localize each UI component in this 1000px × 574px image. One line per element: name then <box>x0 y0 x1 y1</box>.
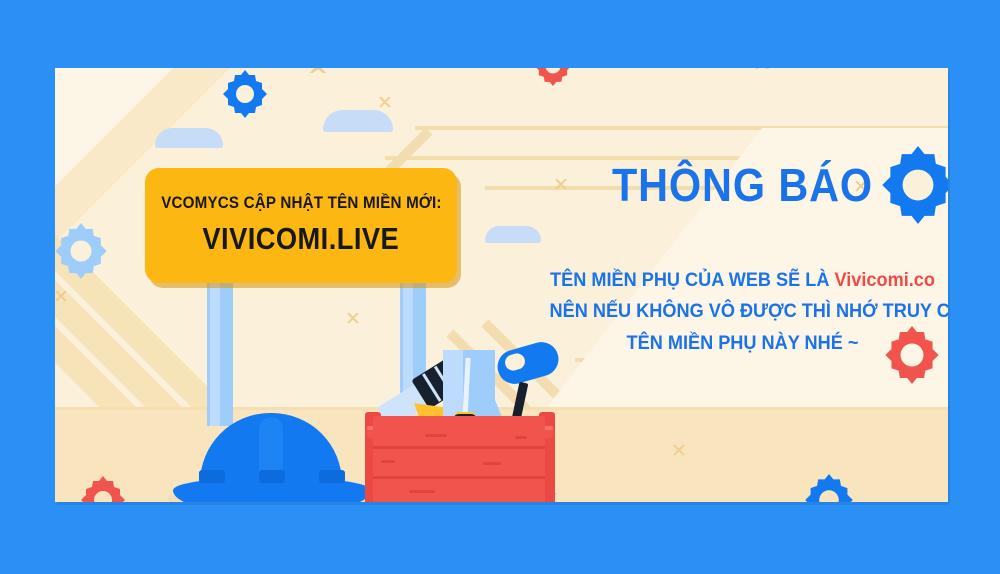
guide-corner-1 <box>394 127 432 165</box>
announcement-card: ✕ ✕ ✕ ✕ ✕ ✕ ✕ ✕ ^ ^ <box>55 68 948 502</box>
toolbox <box>365 364 555 502</box>
x-mark-6: ✕ <box>55 288 69 307</box>
toolbox-dash-4 <box>409 490 435 493</box>
gear-bottom-left-red-icon <box>79 476 127 502</box>
page-title: THÔNG BÁO <box>556 160 930 211</box>
post-shine <box>210 268 220 426</box>
gear-top-left-icon <box>221 70 269 118</box>
x-mark-1: ✕ <box>377 94 393 113</box>
announcement-body: TÊN MIỀN PHỤ CỦA WEB SẼ LÀ Vivicomi.co N… <box>550 265 936 360</box>
announcement-text-block: THÔNG BÁO TÊN MIỀN PHỤ CỦA WEB SẼ LÀ Viv… <box>535 160 948 359</box>
hard-hat-clip-center <box>259 470 285 483</box>
toolbox-body <box>373 416 545 502</box>
toolbox-plank-2 <box>373 476 545 479</box>
toolbox-dash-1 <box>381 460 395 463</box>
diagonal-joint-2 <box>610 388 948 392</box>
secondary-domain-link[interactable]: Vivicomi.co <box>834 269 934 291</box>
announcement-line-1: TÊN MIỀN PHỤ CỦA WEB SẼ LÀ Vivicomi.co <box>550 265 936 297</box>
hard-hat <box>173 413 371 502</box>
chevron-mark-top-right: ^ <box>753 68 771 84</box>
cloud-top-left <box>155 128 223 148</box>
cloud-right-mid <box>485 226 541 243</box>
x-mark-5: ✕ <box>345 310 361 329</box>
announcement-line-3: TÊN MIỀN PHỤ NÀY NHÉ ~ <box>550 328 936 360</box>
toolbox-dash-3 <box>483 462 501 465</box>
hard-hat-clip-right <box>319 470 345 483</box>
sign-headline: VCOMYCS CẬP NHẬT TÊN MIỀN MỚI: <box>161 194 441 213</box>
toolbox-plank-1 <box>373 446 545 449</box>
guide-line-1 <box>415 126 948 130</box>
announcement-line-1-prefix: TÊN MIỀN PHỤ CỦA WEB SẼ LÀ <box>550 269 834 291</box>
domain-sign[interactable]: VCOMYCS CẬP NHẬT TÊN MIỀN MỚI: VIVICOMI.… <box>145 168 457 283</box>
x-mark-8: ✕ <box>671 442 687 461</box>
brush-bristle-line <box>422 373 442 402</box>
gear-left-mid-icon <box>55 223 109 279</box>
chevron-mark-top: ^ <box>307 68 329 90</box>
hard-hat-clip-left <box>199 470 225 483</box>
gear-bottom-right-icon <box>803 474 855 502</box>
announcement-line-2: NÊN NẾU KHÔNG VÔ ĐƯỢC THÌ NHỚ TRUY CẬP <box>550 296 936 328</box>
toolbox-dash-2 <box>425 434 447 437</box>
poster-canvas: ✕ ✕ ✕ ✕ ✕ ✕ ✕ ✕ ^ ^ <box>0 0 1000 574</box>
toolbox-dash-5 <box>515 436 527 439</box>
sign-post-left <box>207 268 233 426</box>
sign-domain: VIVICOMI.LIVE <box>203 221 400 257</box>
gear-top-center-red-icon <box>533 68 573 86</box>
